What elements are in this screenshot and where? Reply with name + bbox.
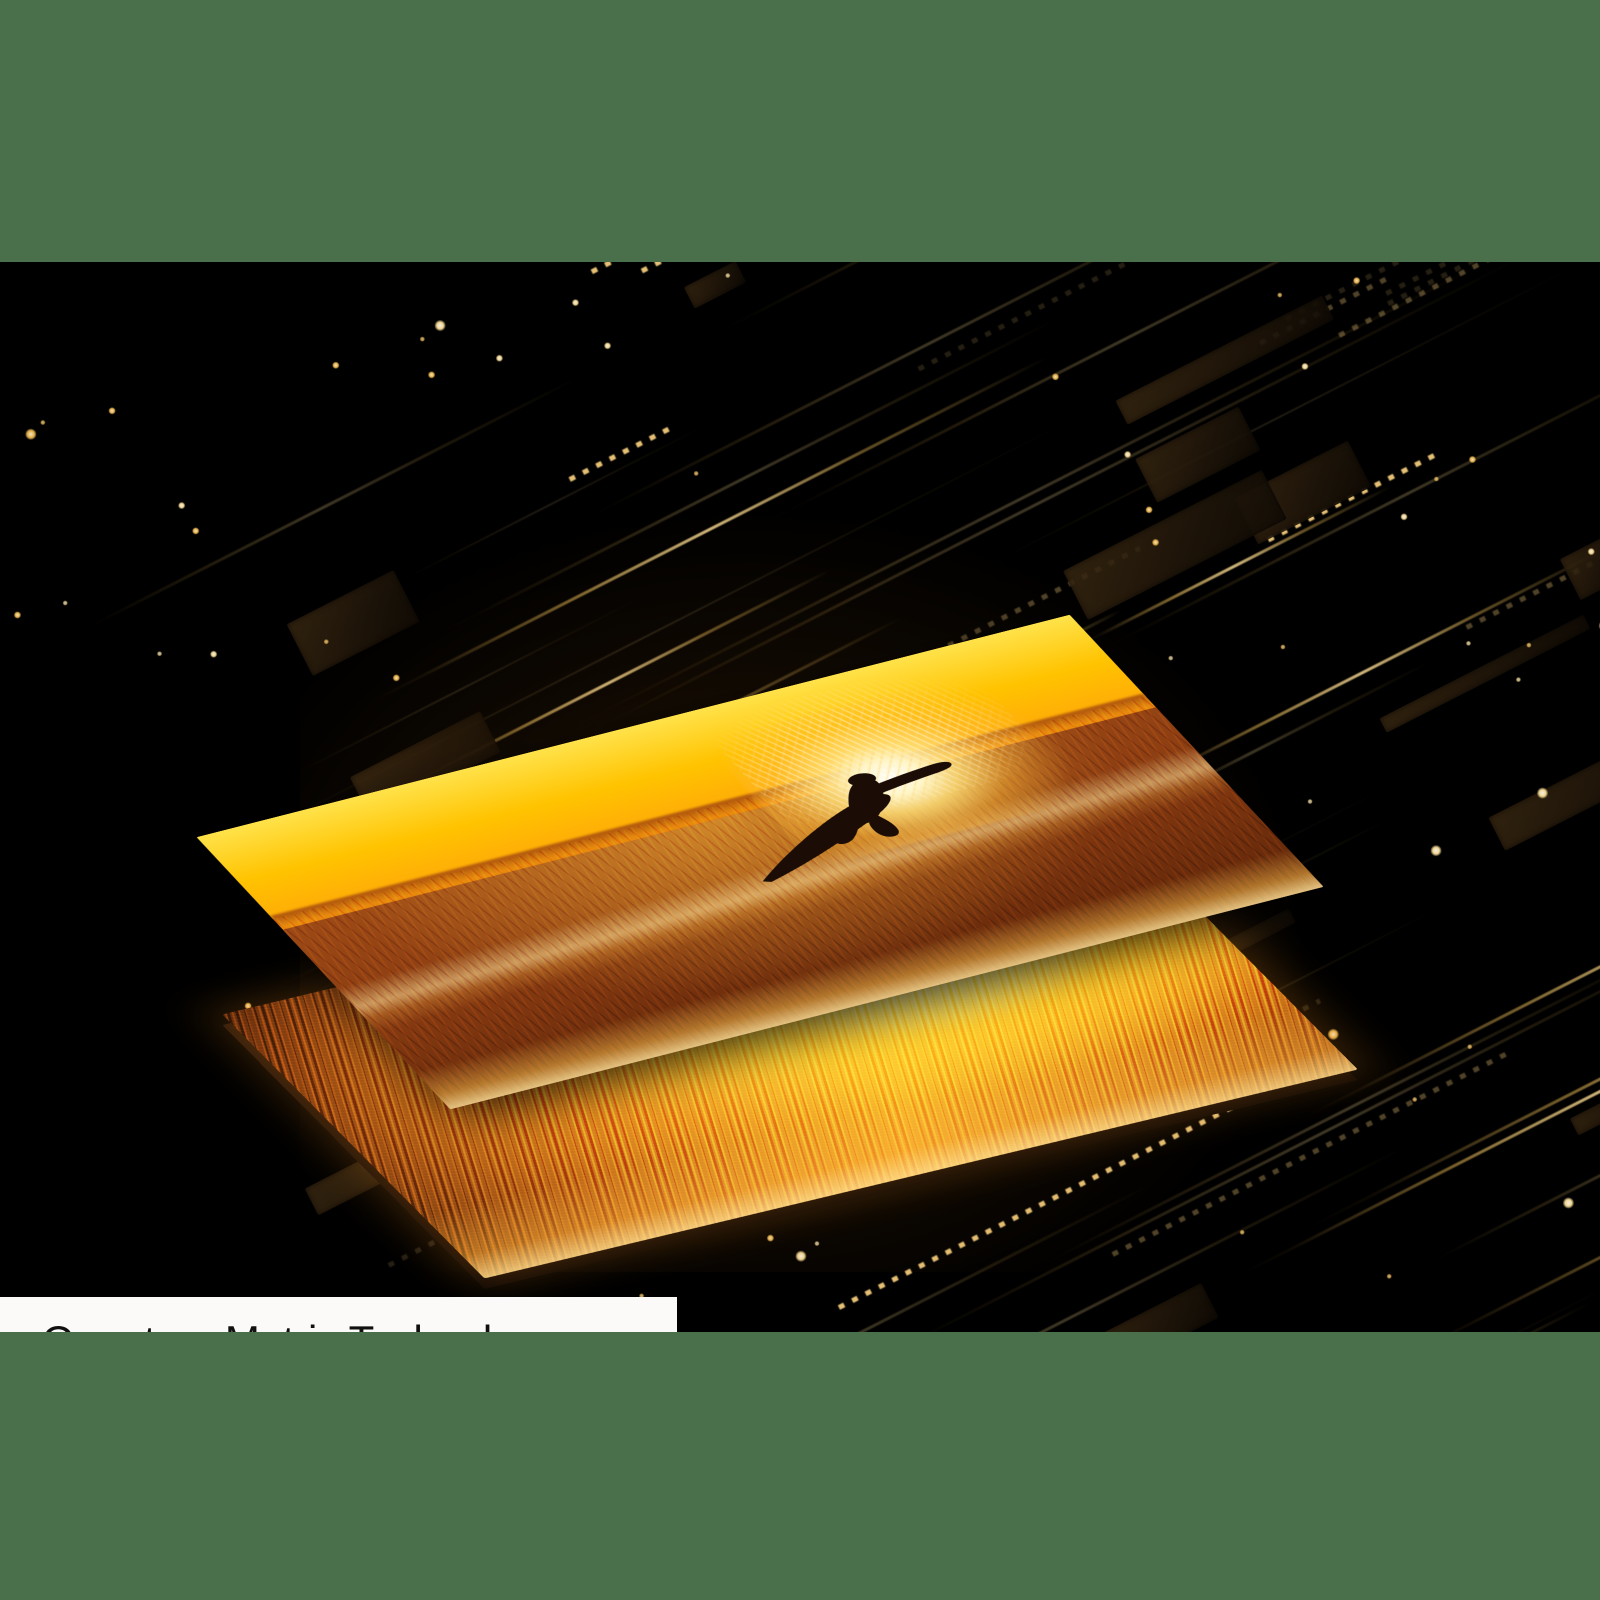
eyebrow-badge: Quantum Matrix Technology [0, 1297, 677, 1332]
hero-visual: Quantum Matrix Technology Every detail e… [0, 262, 1600, 1332]
eyebrow-label: Quantum Matrix Technology [42, 1317, 559, 1332]
screenshot-canvas: Quantum Matrix Technology Every detail e… [0, 0, 1600, 1600]
